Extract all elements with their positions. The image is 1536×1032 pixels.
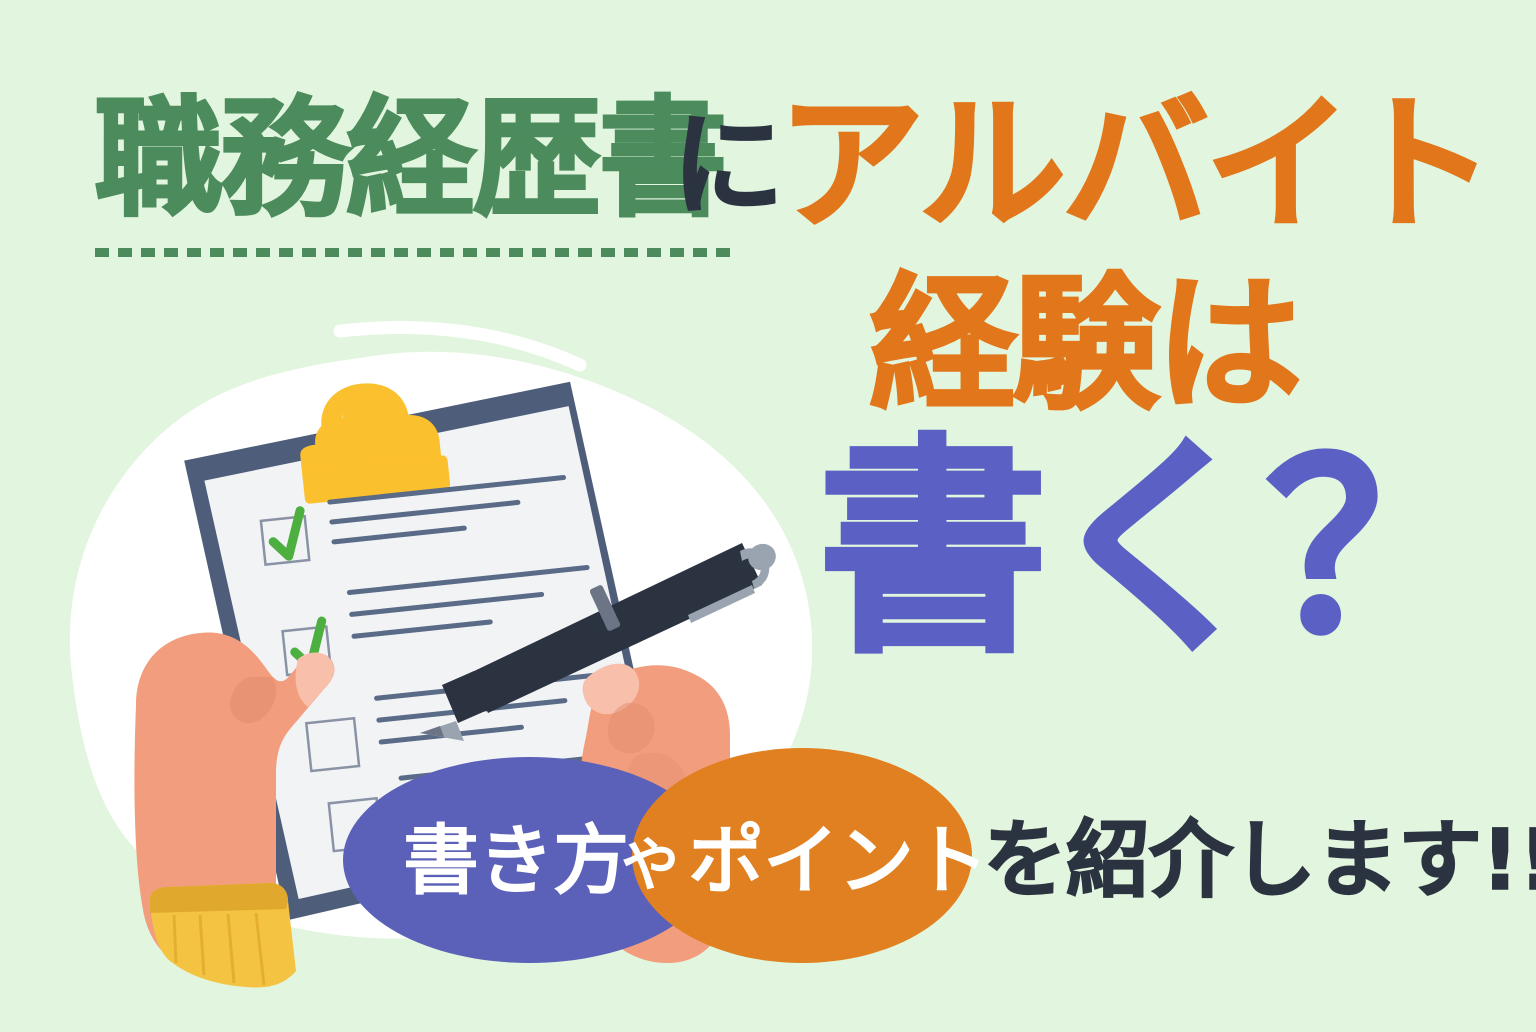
ellipse-blue-label: 書き方 [403,823,628,899]
ellipse-orange-label: ポイント [688,823,988,899]
headline-line4-blue: 書く？ [818,436,1490,666]
poster-canvas: 職務経歴書 に アルバイト 経験は 書く？ 書き方 や ポイント を紹介します!… [0,0,1536,1032]
footer-tail-text: を紹介します!! [983,818,1536,902]
ellipse-overlap-label: や [621,836,678,894]
headline-line2-orange: アルバイト [778,92,1492,238]
headline-line1-green: 職務経歴書 [95,96,725,224]
sleeve-cuff-icon [150,883,296,987]
headline-line3-orange: 経験は [870,272,1299,418]
dashed-underline [95,248,735,257]
headline-line1-particle: に [672,110,784,222]
